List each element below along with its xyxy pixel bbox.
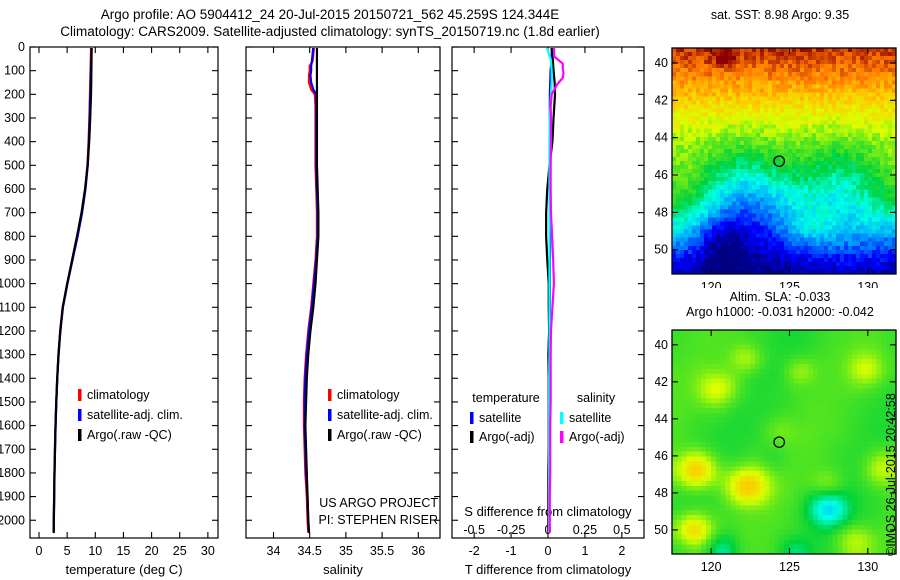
x-tick-label: 30: [201, 544, 215, 558]
y-tick-label: 1100: [0, 300, 25, 314]
sst-map[interactable]: 120125130-40-42-44-46-48-50: [655, 26, 900, 288]
x-axis-title: temperature (deg C): [65, 562, 182, 577]
legend-label: climatology: [337, 388, 400, 402]
legend-group-header: temperature: [472, 391, 539, 405]
y-tick-label: 1700: [0, 442, 25, 456]
y-tick-label: 1600: [0, 419, 25, 433]
legend-label: satellite-adj. clim.: [87, 408, 183, 422]
map-y-tick-label: -44: [655, 412, 668, 426]
x-tick-label: 0: [545, 544, 552, 558]
map-x-tick-label: 120: [701, 280, 722, 288]
x-tick-label: 20: [145, 544, 159, 558]
us-argo-project-label: US ARGO PROJECT: [319, 496, 438, 510]
plot-frame: [246, 47, 440, 538]
legend-label: Argo(-adj): [569, 430, 625, 444]
title-line-2: Climatology: CARS2009. Satellite-adjuste…: [0, 23, 660, 40]
map-y-tick-label: -48: [655, 486, 668, 500]
y-tick-label: 700: [4, 206, 25, 220]
legend-swatch: [560, 431, 564, 443]
legend-swatch: [78, 409, 82, 421]
x-tick-label-secondary: 0.25: [573, 523, 597, 537]
y-tick-label: 1400: [0, 371, 25, 385]
x-tick-label: 5: [64, 544, 71, 558]
sla-map[interactable]: 120125130-40-42-44-46-48-50: [655, 322, 900, 580]
x-tick-label: 2: [618, 544, 625, 558]
map-y-tick-label: -42: [655, 93, 668, 107]
x-tick-label-secondary: 0.5: [613, 523, 630, 537]
map-y-tick-label: -46: [655, 449, 668, 463]
map-y-tick-label: -50: [655, 523, 668, 537]
map-x-tick-label: 120: [701, 560, 722, 574]
plot-frame: [30, 47, 218, 538]
x-tick-label: 0: [36, 544, 43, 558]
sla-map-title: Altim. SLA: -0.033 Argo h1000: -0.031 h2…: [660, 290, 900, 320]
map-y-tick-label: -42: [655, 375, 668, 389]
title-line-1: Argo profile: AO 5904412_24 20-Jul-2015 …: [0, 6, 660, 23]
y-tick-label: 2000: [0, 513, 25, 527]
y-tick-label: 200: [4, 87, 25, 101]
legend-swatch: [78, 389, 82, 401]
x-axis-title: T difference from climatology: [465, 562, 632, 577]
sla-map-title-line-1: Altim. SLA: -0.033: [660, 290, 900, 305]
copyright-label: ©IMOS 26-Jul-2015 20:42:58: [884, 393, 898, 556]
x-tick-label: -2: [469, 544, 480, 558]
y-tick-label: 600: [4, 182, 25, 196]
y-tick-label: 500: [4, 158, 25, 172]
legend-swatch: [470, 412, 474, 424]
legend-swatch: [78, 429, 82, 441]
legend-swatch: [470, 431, 474, 443]
x-tick-label: 34: [267, 544, 281, 558]
x-tick-label: 10: [88, 544, 102, 558]
legend-swatch: [328, 409, 332, 421]
y-tick-label: 800: [4, 229, 25, 243]
x-tick-label: 36: [411, 544, 425, 558]
map-y-tick-label: -48: [655, 205, 668, 219]
x-tick-label: 1: [581, 544, 588, 558]
map-y-tick-label: -44: [655, 131, 668, 145]
x-axis-title: salinity: [323, 562, 363, 577]
x-tick-label-secondary: -0.5: [463, 523, 485, 537]
difference-profile-panel[interactable]: -2-1012T difference from climatology-0.5…: [448, 40, 660, 580]
sst-map-title: sat. SST: 8.98 Argo: 9.35: [660, 8, 900, 23]
legend-swatch: [328, 389, 332, 401]
page-title: Argo profile: AO 5904412_24 20-Jul-2015 …: [0, 6, 660, 40]
y-tick-label: 900: [4, 253, 25, 267]
legend-label: Argo(-adj): [479, 430, 535, 444]
legend-label: satellite-adj. clim.: [337, 408, 433, 422]
map-y-tick-label: -50: [655, 243, 668, 257]
y-tick-label: 1200: [0, 324, 25, 338]
salinity-profile-panel[interactable]: 3434.53535.536salinityclimatologysatelli…: [232, 40, 454, 580]
map-x-tick-label: 130: [857, 280, 878, 288]
y-tick-label: 300: [4, 111, 25, 125]
map-x-tick-label: 125: [779, 560, 800, 574]
y-tick-label: 100: [4, 64, 25, 78]
map-x-tick-label: 125: [779, 280, 800, 288]
y-tick-label: 1800: [0, 466, 25, 480]
legend-label: satellite: [479, 411, 521, 425]
x-tick-label: 35.5: [370, 544, 394, 558]
y-tick-label: 0: [18, 40, 25, 54]
legend-label: Argo(.raw -QC): [87, 428, 172, 442]
x-tick-label: 34.5: [298, 544, 322, 558]
map-y-tick-label: -40: [655, 338, 668, 352]
y-tick-label: 1500: [0, 395, 25, 409]
y-tick-label: 400: [4, 135, 25, 149]
map-y-tick-label: -40: [655, 56, 668, 70]
y-tick-label: 1900: [0, 490, 25, 504]
x-tick-label-secondary: -0.25: [497, 523, 526, 537]
map-y-tick-label: -46: [655, 168, 668, 182]
temperature-profile-panel[interactable]: 0100200300400500600700800900100011001200…: [0, 40, 232, 580]
legend-label: satellite: [569, 411, 611, 425]
x-tick-label: -1: [506, 544, 517, 558]
pi-label: PI: STEPHEN RISER: [319, 513, 438, 527]
x-tick-label: 15: [116, 544, 130, 558]
legend-swatch: [560, 412, 564, 424]
legend-swatch: [328, 429, 332, 441]
legend-label: climatology: [87, 388, 150, 402]
x-tick-label: 25: [173, 544, 187, 558]
sla-map-title-line-2: Argo h1000: -0.031 h2000: -0.042: [660, 305, 900, 320]
legend-label: Argo(.raw -QC): [337, 428, 422, 442]
y-tick-label: 1300: [0, 348, 25, 362]
map-x-tick-label: 130: [857, 560, 878, 574]
legend-group-header: salinity: [577, 391, 616, 405]
x-tick-label: 35: [339, 544, 353, 558]
y-tick-label: 1000: [0, 277, 25, 291]
